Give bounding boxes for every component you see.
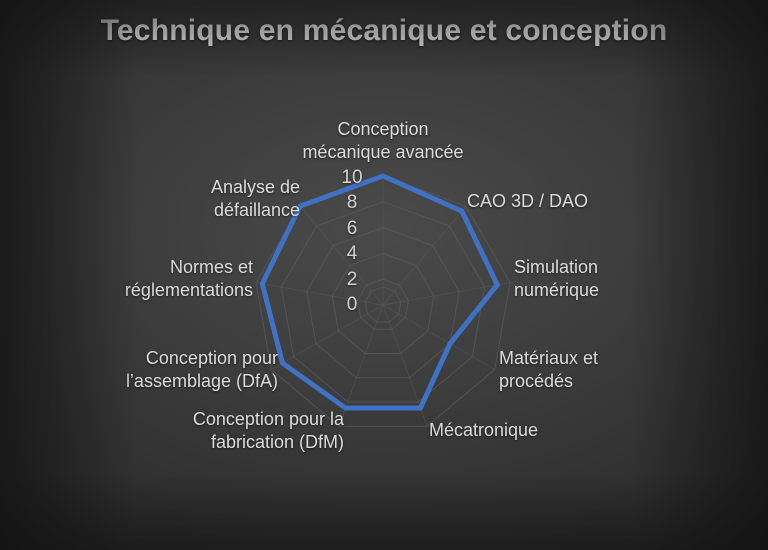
radar-spoke xyxy=(300,206,383,305)
radar-spoke xyxy=(383,206,466,305)
category-label-line2: réglementations xyxy=(125,279,253,302)
category-label-line2: défaillance xyxy=(211,199,300,222)
category-label-line2: fabrication (DfM) xyxy=(193,431,344,454)
category-label-line1: Mécatronique xyxy=(429,419,538,442)
category-label-line1: Matériaux et xyxy=(499,347,598,370)
category-label-line1: Conception xyxy=(302,118,463,141)
category-label-line2: l’assemblage (DfA) xyxy=(126,370,278,393)
category-label-line1: Analyse de xyxy=(211,176,300,199)
category-label-line1: Normes et xyxy=(125,256,253,279)
axis-tick-label: 0 xyxy=(347,294,358,316)
category-label-line1: Conception pour la xyxy=(193,408,344,431)
category-label-line2: mécanique avancée xyxy=(302,141,463,164)
radar-spoke xyxy=(271,305,383,370)
category-label-1: CAO 3D / DAO xyxy=(467,190,588,213)
axis-tick-label: 6 xyxy=(347,218,358,240)
radar-chart: 1086420 Conceptionmécanique avancéeCAO 3… xyxy=(0,0,768,550)
category-label-line1: Conception pour xyxy=(126,347,278,370)
radar-spoke xyxy=(383,305,495,370)
category-label-5: Conception pour lafabrication (DfM) xyxy=(193,408,344,453)
axis-tick-label: 4 xyxy=(347,243,358,265)
axis-tick-label: 8 xyxy=(347,192,358,214)
axis-tick-label: 2 xyxy=(347,269,358,291)
radar-chart-svg xyxy=(0,0,768,550)
category-label-2: Simulationnumérique xyxy=(514,256,599,301)
category-label-line2: procédés xyxy=(499,370,598,393)
category-label-line2: numérique xyxy=(514,279,599,302)
category-label-0: Conceptionmécanique avancée xyxy=(302,118,463,163)
category-label-7: Normes etréglementations xyxy=(125,256,253,301)
axis-tick-label: 10 xyxy=(341,167,362,189)
radar-spoke xyxy=(256,283,383,305)
category-label-line1: Simulation xyxy=(514,256,599,279)
category-label-8: Analyse dedéfaillance xyxy=(211,176,300,221)
category-label-line1: CAO 3D / DAO xyxy=(467,190,588,213)
category-label-3: Matériaux etprocédés xyxy=(499,347,598,392)
category-label-6: Conception pourl’assemblage (DfA) xyxy=(126,347,278,392)
category-label-4: Mécatronique xyxy=(429,419,538,442)
